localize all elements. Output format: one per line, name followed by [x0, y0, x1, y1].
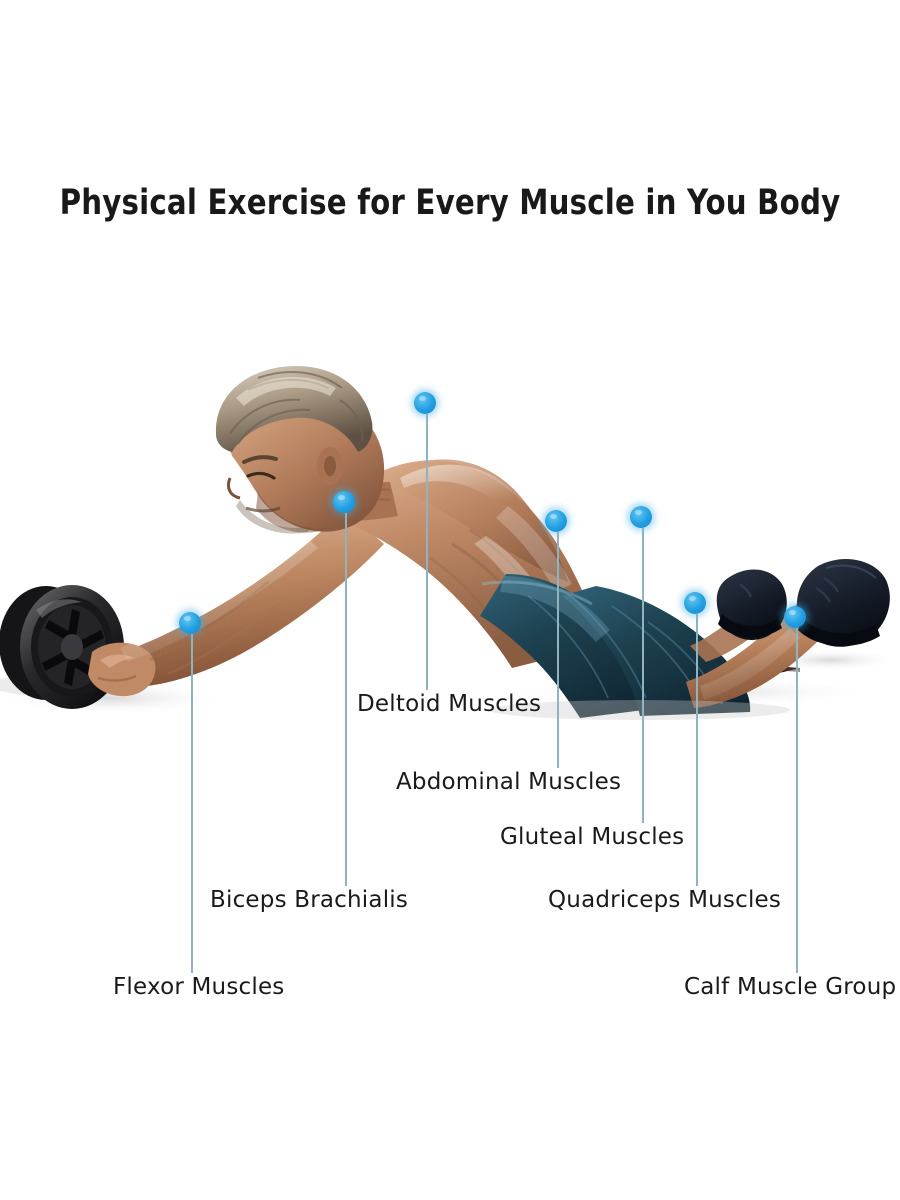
head [216, 366, 398, 534]
leader-line-gluteal [642, 528, 644, 823]
label-deltoid[interactable]: Deltoid Muscles [357, 691, 541, 717]
marker-dot-calf[interactable] [784, 606, 806, 628]
leader-line-biceps [345, 513, 347, 886]
label-biceps[interactable]: Biceps Brachialis [210, 887, 408, 913]
marker-dot-biceps[interactable] [333, 491, 355, 513]
infographic-page: Physical Exercise for Every Muscle in Yo… [0, 0, 900, 1200]
label-calf[interactable]: Calf Muscle Group [684, 974, 896, 1000]
marker-dot-flexor[interactable] [179, 612, 201, 634]
leader-line-deltoid [426, 414, 428, 690]
label-quadriceps[interactable]: Quadriceps Muscles [548, 887, 781, 913]
exercise-photo [0, 330, 900, 720]
leader-line-quadriceps [696, 614, 698, 886]
label-flexor[interactable]: Flexor Muscles [113, 974, 284, 1000]
shoes [717, 559, 890, 647]
leader-line-flexor [191, 634, 193, 973]
page-title: Physical Exercise for Every Muscle in Yo… [32, 183, 869, 223]
leader-line-abdominal [557, 532, 559, 768]
label-gluteal[interactable]: Gluteal Muscles [500, 824, 684, 850]
marker-dot-deltoid[interactable] [414, 392, 436, 414]
marker-dot-quadriceps[interactable] [684, 592, 706, 614]
left-arm [88, 510, 384, 696]
marker-dot-gluteal[interactable] [630, 506, 652, 528]
marker-dot-abdominal[interactable] [545, 510, 567, 532]
leader-line-calf [796, 628, 798, 973]
label-abdominal[interactable]: Abdominal Muscles [396, 769, 621, 795]
